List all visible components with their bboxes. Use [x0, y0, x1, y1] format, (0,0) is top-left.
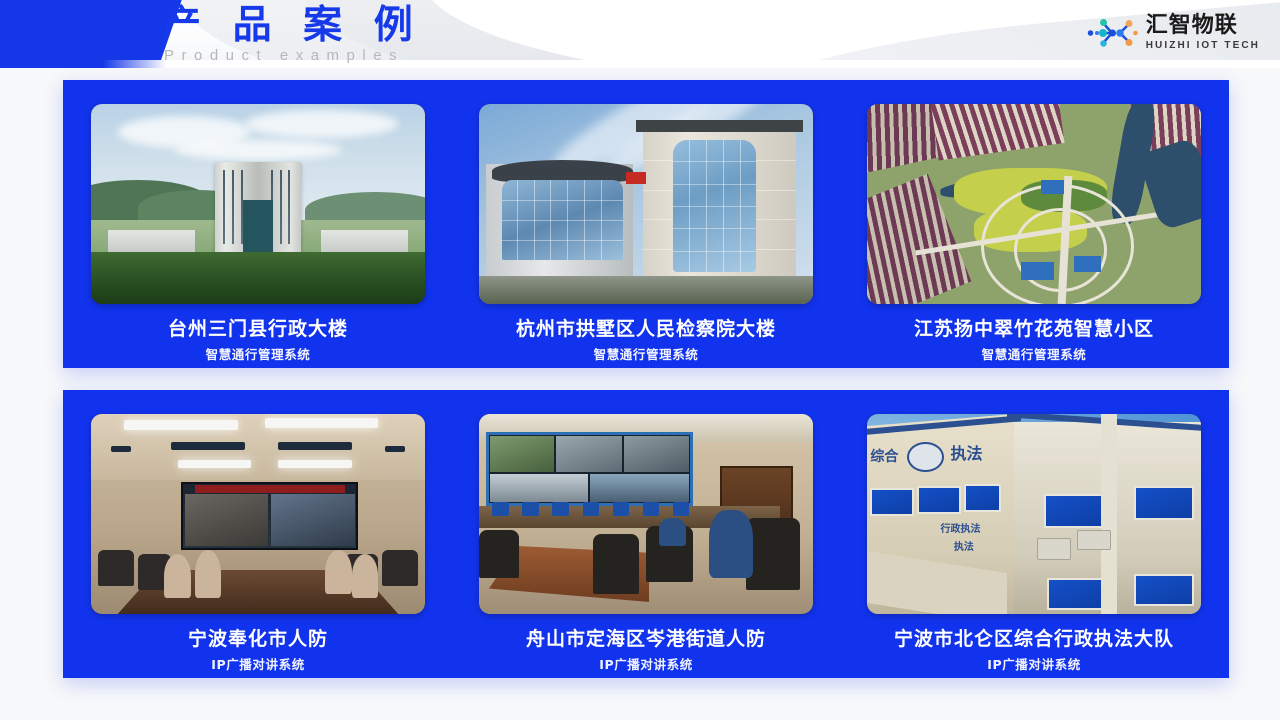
case-subtitle: 智慧通行管理系统: [206, 347, 311, 362]
header-blue-accent-block: [0, 0, 182, 68]
header-title-group: 产 品 案 例 Product examples: [162, 4, 422, 65]
molecule-icon: [1086, 14, 1138, 52]
case-card[interactable]: 江苏扬中翠竹花苑智慧小区 智慧通行管理系统: [867, 104, 1201, 350]
panel-top: 台州三门县行政大楼 智慧通行管理系统: [63, 80, 1229, 368]
case-title: 舟山市定海区岑港街道人防: [526, 628, 766, 650]
case-card[interactable]: 杭州市拱墅区人民检察院大楼 智慧通行管理系统: [479, 104, 813, 350]
panel-bottom: 宁波奉化市人防 IP广播对讲系统: [63, 390, 1229, 678]
brand-name-en: HUIZHI IOT TECH: [1146, 39, 1260, 52]
brand-logo: 汇智物联 HUIZHI IOT TECH: [1086, 14, 1260, 52]
case-photo-enforcement-building: 综合 执法 行政执法 执法: [867, 414, 1201, 614]
case-card[interactable]: 台州三门县行政大楼 智慧通行管理系统: [91, 104, 425, 350]
case-subtitle: IP广播对讲系统: [599, 657, 693, 672]
case-title: 江苏扬中翠竹花苑智慧小区: [914, 318, 1154, 340]
case-photo-residential-community: [867, 104, 1201, 304]
case-subtitle: 智慧通行管理系统: [594, 347, 699, 362]
page-header: 产 品 案 例 Product examples 汇智物联 HUI: [0, 0, 1280, 68]
page-subtitle: Product examples: [164, 47, 422, 65]
brand-text: 汇智物联 HUIZHI IOT TECH: [1146, 14, 1260, 52]
case-subtitle: IP广播对讲系统: [211, 657, 305, 672]
case-title: 宁波奉化市人防: [188, 628, 328, 650]
case-subtitle: 智慧通行管理系统: [982, 347, 1087, 362]
case-card[interactable]: 舟山市定海区岑港街道人防 IP广播对讲系统: [479, 414, 813, 660]
brand-name-cn: 汇智物联: [1146, 14, 1260, 38]
case-photo-government-building: [91, 104, 425, 304]
page-title: 产 品 案 例: [162, 4, 422, 48]
case-card[interactable]: 宁波奉化市人防 IP广播对讲系统: [91, 414, 425, 660]
case-subtitle: IP广播对讲系统: [987, 657, 1081, 672]
case-title: 杭州市拱墅区人民检察院大楼: [516, 318, 776, 340]
case-title: 宁波市北仑区综合行政执法大队: [894, 628, 1174, 650]
case-photo-procuratorate: [479, 104, 813, 304]
case-title: 台州三门县行政大楼: [168, 318, 348, 340]
case-card[interactable]: 综合 执法 行政执法 执法 宁波市北仑区综合行政执法大队 IP广播对讲系统: [867, 414, 1201, 660]
case-photo-command-center: [479, 414, 813, 614]
case-photo-conference-room: [91, 414, 425, 614]
